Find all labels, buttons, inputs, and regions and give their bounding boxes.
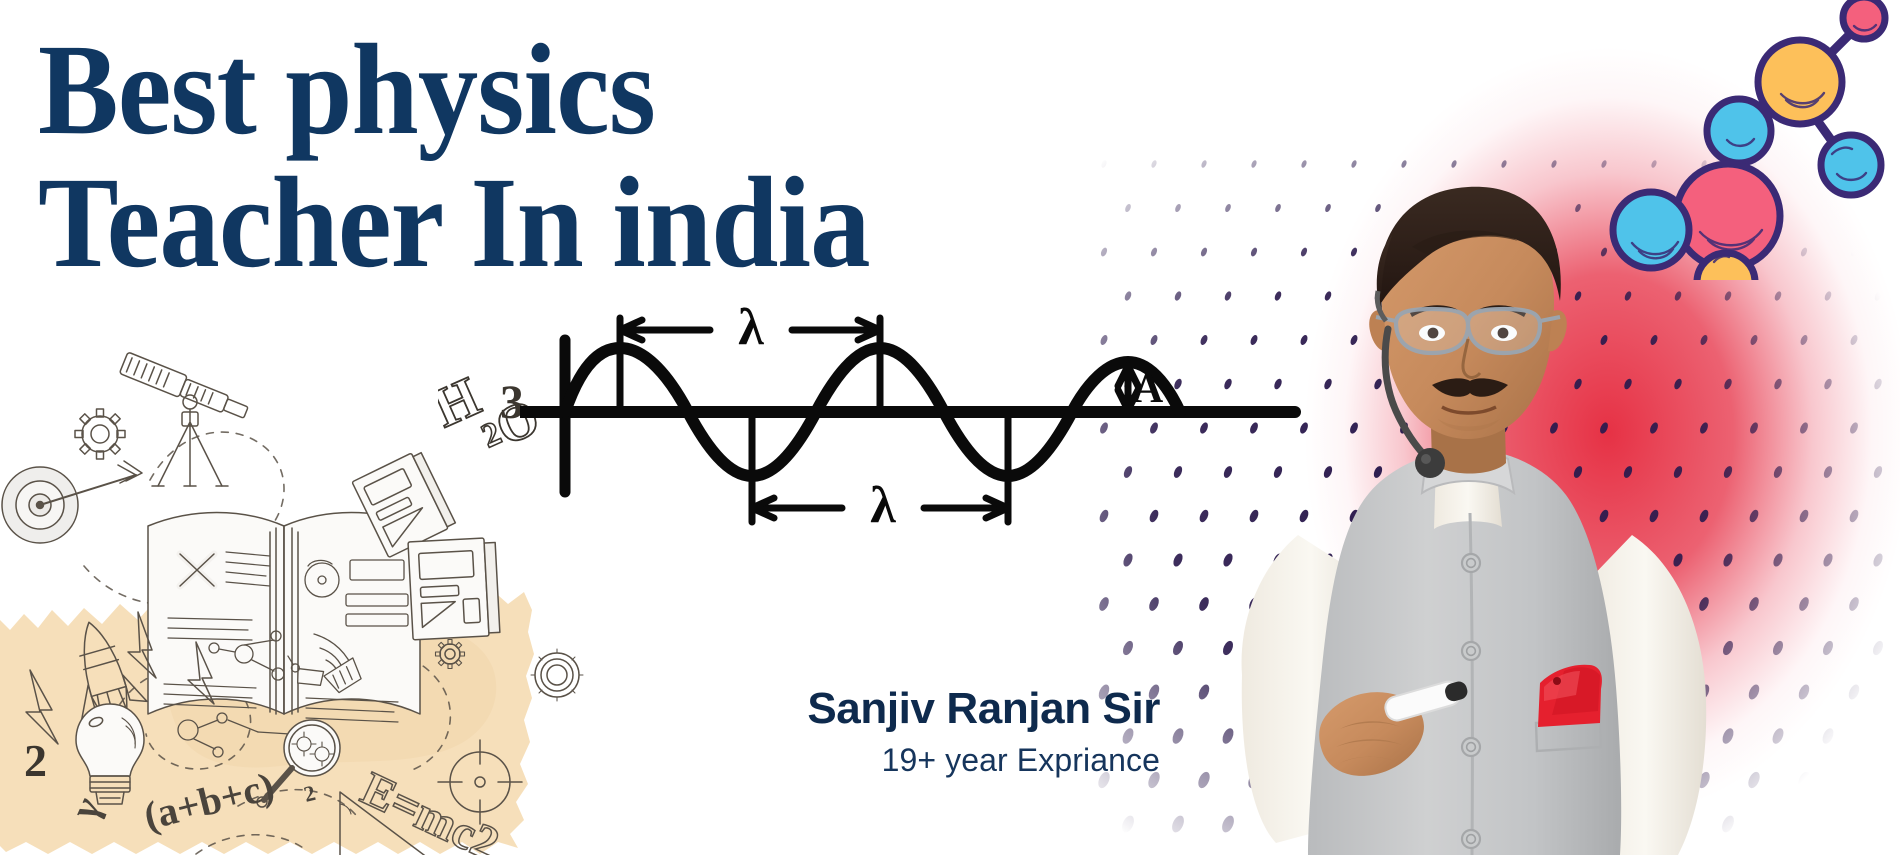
page-title: Best physics Teacher In india [38,24,1024,289]
gear-doodle [75,409,125,459]
target-arrow-doodle [2,461,142,543]
telescope-doodle [119,352,250,486]
red-radial-glow [1245,35,1900,855]
gear-doodle-2 [436,640,465,669]
amplitude-label: A [1133,366,1164,412]
wavelength-bottom-label: λ [870,477,896,534]
presenter-block: Sanjiv Ranjan Sir 19+ year Expriance [0,684,1170,779]
svg-text:H: H [438,366,489,440]
number-three-text: 3 [500,376,524,429]
svg-text:2: 2 [301,780,318,807]
svg-text:2: 2 [476,415,507,456]
wave-diagram: λ λ A [520,300,1310,560]
triangle-doodle [340,792,444,855]
presenter-experience: 19+ year Expriance [0,741,1160,779]
h2o-doodle-text: H 2 O [438,364,568,484]
closed-book-doodle-2 [408,537,500,639]
wavelength-top-label: λ [738,300,764,356]
presenter-name: Sanjiv Ranjan Sir [0,684,1160,735]
svg-text:O: O [488,388,548,457]
promotional-banner: 2 3 E=mc2 (a+b+c) 2 γ H 2 O [0,0,1900,855]
closed-book-doodle [352,449,456,557]
atom-pink-small-top-right [1843,0,1885,39]
svg-text:γ: γ [61,790,110,827]
